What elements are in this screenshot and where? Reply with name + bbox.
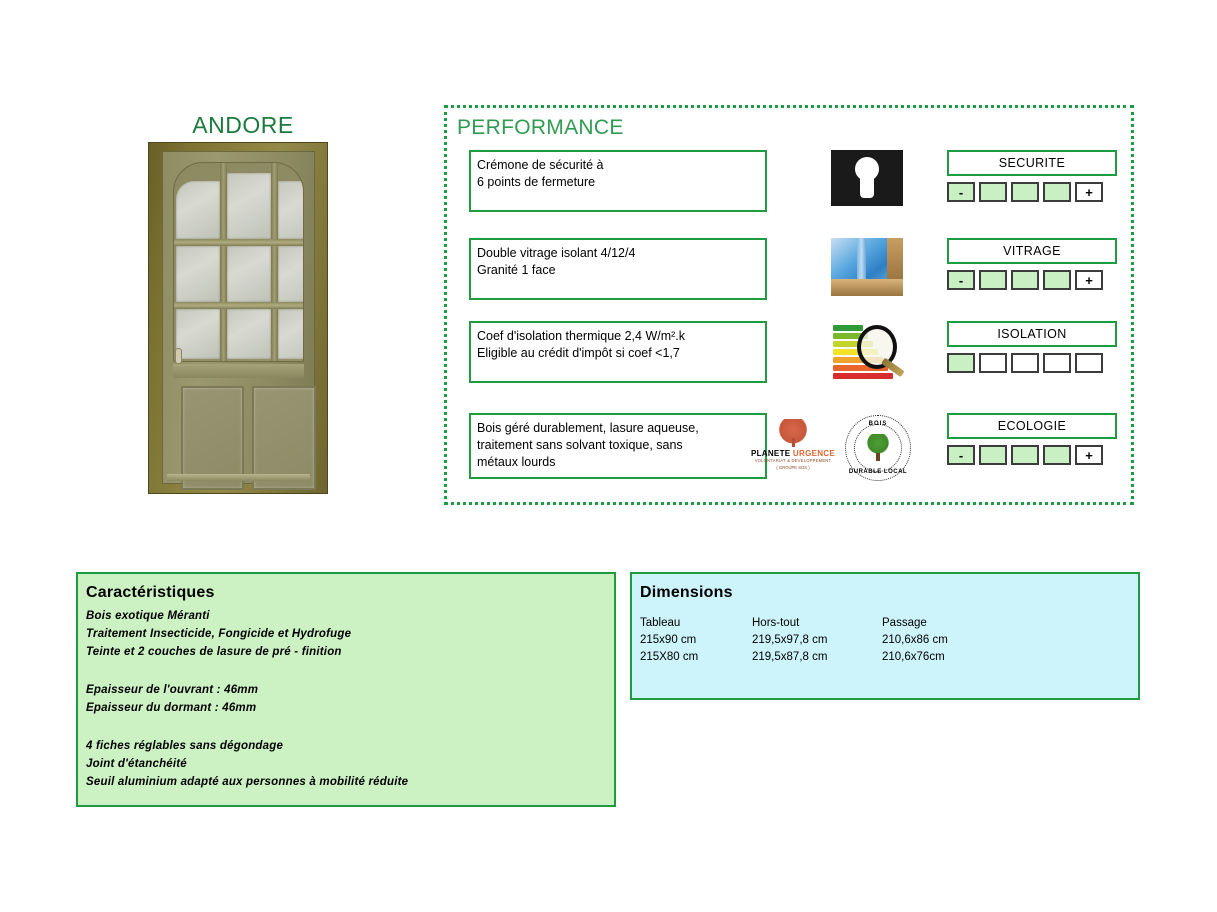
planete-urgence-group: ( GROUPE SOS ) <box>747 465 839 470</box>
dimensions-cell: 219,5x97,8 cm <box>752 632 882 649</box>
rating-box[interactable] <box>1011 182 1039 202</box>
plus-icon: + <box>1077 274 1101 287</box>
door-mullion-horizontal <box>174 302 303 309</box>
rating-box[interactable]: + <box>1075 270 1103 290</box>
glass-pane <box>176 246 220 302</box>
glazing-sill <box>831 279 903 296</box>
vitrage-line-1: Double vitrage isolant 4/12/4 <box>477 245 765 262</box>
dimensions-cell: 210,6x76cm <box>882 649 1002 666</box>
isolation-line-2: Eligible au crédit d'impôt si coef <1,7 <box>477 345 765 362</box>
rating-box[interactable] <box>1011 270 1039 290</box>
door-mullion-vertical <box>271 163 278 361</box>
securite-line-2: 6 points de fermeture <box>477 174 765 191</box>
rating-box[interactable] <box>1043 270 1071 290</box>
glazing-bar <box>857 238 866 279</box>
performance-panel: PERFORMANCE Crémone de sécurité à 6 poin… <box>444 105 1134 505</box>
minus-icon: - <box>949 274 973 287</box>
minus-icon: - <box>949 186 973 199</box>
planete-urgence-logo: PLANETE URGENCE VOLONTARIAT & DEVELOPPEM… <box>747 419 839 470</box>
rating-group-ecologie: ECOLOGIE - + <box>947 413 1117 465</box>
spacer <box>86 661 614 681</box>
rating-box[interactable] <box>1043 353 1071 373</box>
dimensions-table: Tableau Hors-tout Passage 215x90 cm 219,… <box>640 615 1002 666</box>
dimensions-header: Hors-tout <box>752 615 882 632</box>
rating-box[interactable] <box>1043 182 1071 202</box>
rating-boxes-securite: - + <box>947 182 1117 202</box>
rating-group-vitrage: VITRAGE - + <box>947 238 1117 290</box>
glass-pane <box>278 309 304 359</box>
rating-box[interactable] <box>947 353 975 373</box>
ecologie-description: Bois géré durablement, lasure aqueuse, t… <box>469 413 767 479</box>
rating-label-securite: SECURITE <box>947 150 1117 176</box>
rating-box[interactable] <box>979 353 1007 373</box>
dimensions-panel: Dimensions Tableau Hors-tout Passage 215… <box>630 572 1140 700</box>
rating-box[interactable]: - <box>947 445 975 465</box>
bois-durable-bottom-text: DURABLE LOCAL <box>845 469 911 475</box>
rating-box[interactable] <box>1043 445 1071 465</box>
table-row: 215X80 cm 219,5x87,8 cm 210,6x76cm <box>640 649 1002 666</box>
bois-durable-top-text: BOIS <box>845 421 911 427</box>
plus-icon: + <box>1077 449 1101 462</box>
door-product-image <box>148 142 328 494</box>
plus-icon: + <box>1077 186 1101 199</box>
vitrage-description: Double vitrage isolant 4/12/4 Granité 1 … <box>469 238 767 300</box>
vitrage-line-2: Granité 1 face <box>477 262 765 279</box>
rating-box[interactable] <box>1011 353 1039 373</box>
rating-box[interactable]: - <box>947 270 975 290</box>
glass-pane <box>176 309 220 359</box>
rating-label-vitrage: VITRAGE <box>947 238 1117 264</box>
dimensions-title: Dimensions <box>640 584 1138 602</box>
planete-urgence-name-2: URGENCE <box>793 449 835 458</box>
dimensions-cell: 215X80 cm <box>640 649 752 666</box>
ecologie-line-2: traitement sans solvant toxique, sans <box>477 437 765 454</box>
isolation-description: Coef d'isolation thermique 2,4 W/m².k El… <box>469 321 767 383</box>
securite-description: Crémone de sécurité à 6 points de fermet… <box>469 150 767 212</box>
performance-row-securite: Crémone de sécurité à 6 points de fermet… <box>447 150 1131 222</box>
caracteristiques-line: Seuil aluminium adapté aux personnes à m… <box>86 773 614 791</box>
tree-icon <box>778 419 808 447</box>
rating-box[interactable]: + <box>1075 182 1103 202</box>
securite-line-1: Crémone de sécurité à <box>477 157 765 174</box>
planete-urgence-name-1: PLANETE <box>751 449 790 458</box>
dimensions-header: Passage <box>882 615 1002 632</box>
glazing-icon <box>831 238 903 300</box>
performance-row-ecologie: Bois géré durablement, lasure aqueuse, t… <box>447 413 1131 485</box>
caracteristiques-line: 4 fiches réglables sans dégondage <box>86 737 614 755</box>
planete-urgence-subtitle: VOLONTARIAT & DEVELOPPEMENT <box>747 458 839 463</box>
page-title: ANDORE <box>148 112 338 139</box>
caracteristiques-panel: Caractéristiques Bois exotique Méranti T… <box>76 572 616 807</box>
performance-row-isolation: Coef d'isolation thermique 2,4 W/m².k El… <box>447 321 1131 393</box>
performance-title: PERFORMANCE <box>457 116 624 140</box>
dimensions-cell: 219,5x87,8 cm <box>752 649 882 666</box>
ecologie-line-1: Bois géré durablement, lasure aqueuse, <box>477 420 765 437</box>
door-sill <box>167 474 310 481</box>
spacer <box>86 717 614 737</box>
rating-label-isolation: ISOLATION <box>947 321 1117 347</box>
rating-box[interactable] <box>1075 353 1103 373</box>
caracteristiques-line: Epaisseur de l'ouvrant : 46mm <box>86 681 614 699</box>
table-header-row: Tableau Hors-tout Passage <box>640 615 1002 632</box>
dimensions-cell: 210,6x86 cm <box>882 632 1002 649</box>
isolation-line-1: Coef d'isolation thermique 2,4 W/m².k <box>477 328 765 345</box>
table-row: 215x90 cm 219,5x97,8 cm 210,6x86 cm <box>640 632 1002 649</box>
door-rail <box>173 364 304 378</box>
door-mullion-horizontal <box>174 239 303 246</box>
tree-trunk <box>876 453 880 461</box>
rating-box[interactable] <box>979 182 1007 202</box>
caracteristiques-line: Epaisseur du dormant : 46mm <box>86 699 614 717</box>
ecologie-line-3: métaux lourds <box>477 454 765 471</box>
keyhole-icon <box>831 150 903 212</box>
rating-box[interactable] <box>1011 445 1039 465</box>
rating-box[interactable] <box>979 445 1007 465</box>
dimensions-header: Tableau <box>640 615 752 632</box>
glass-pane <box>227 246 271 302</box>
door-glass-area <box>173 162 304 362</box>
rating-boxes-vitrage: - + <box>947 270 1117 290</box>
energy-label-icon <box>831 321 903 383</box>
glass-pane <box>278 181 304 239</box>
door-leaf <box>162 151 315 484</box>
caracteristiques-line: Joint d'étanchéité <box>86 755 614 773</box>
glass-pane <box>278 246 304 302</box>
rating-boxes-isolation <box>947 353 1117 373</box>
door-handle <box>175 348 182 364</box>
caracteristiques-line: Traitement Insecticide, Fongicide et Hyd… <box>86 625 614 643</box>
rating-label-ecologie: ECOLOGIE <box>947 413 1117 439</box>
eco-logos: PLANETE URGENCE VOLONTARIAT & DEVELOPPEM… <box>747 415 927 481</box>
caracteristiques-line: Bois exotique Méranti <box>86 607 614 625</box>
dimensions-cell: 215x90 cm <box>640 632 752 649</box>
glass-pane <box>227 173 271 239</box>
keyhole-stem <box>860 174 874 198</box>
rating-box[interactable]: + <box>1075 445 1103 465</box>
door-mullion-vertical <box>220 163 227 361</box>
rating-group-isolation: ISOLATION <box>947 321 1117 373</box>
minus-icon: - <box>949 449 973 462</box>
caracteristiques-title: Caractéristiques <box>86 584 614 602</box>
performance-row-vitrage: Double vitrage isolant 4/12/4 Granité 1 … <box>447 238 1131 310</box>
bois-durable-local-logo: BOIS DURABLE LOCAL <box>845 415 911 481</box>
glass-pane <box>227 309 271 359</box>
rating-boxes-ecologie: - + <box>947 445 1117 465</box>
rating-box[interactable] <box>979 270 1007 290</box>
rating-group-securite: SECURITE - + <box>947 150 1117 202</box>
glass-pane <box>176 181 220 239</box>
rating-box[interactable]: - <box>947 182 975 202</box>
caracteristiques-line: Teinte et 2 couches de lasure de pré - f… <box>86 643 614 661</box>
